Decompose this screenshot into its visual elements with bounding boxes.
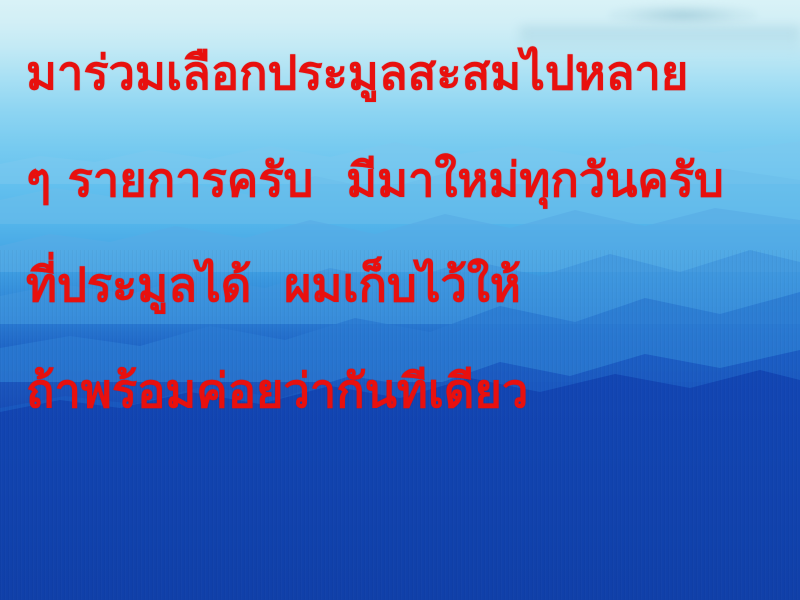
banner-text-overlay: มาร่วมเลือกประมูลสะสมไปหลาย ๆ รายการครับ… [0,0,800,600]
banner-text-line-1: มาร่วมเลือกประมูลสะสมไปหลาย [26,50,786,97]
banner-text-line-3: ที่ประมูลได้ ผมเก็บไว้ให้ [26,262,786,309]
banner-text-line-2: ๆ รายการครับ มีมาใหม่ทุกวันครับ [26,157,786,204]
thai-auction-banner: มาร่วมเลือกประมูลสะสมไปหลาย ๆ รายการครับ… [0,0,800,600]
banner-text-line-4: ถ้าพร้อมค่อยว่ากันทีเดียว [26,368,786,415]
